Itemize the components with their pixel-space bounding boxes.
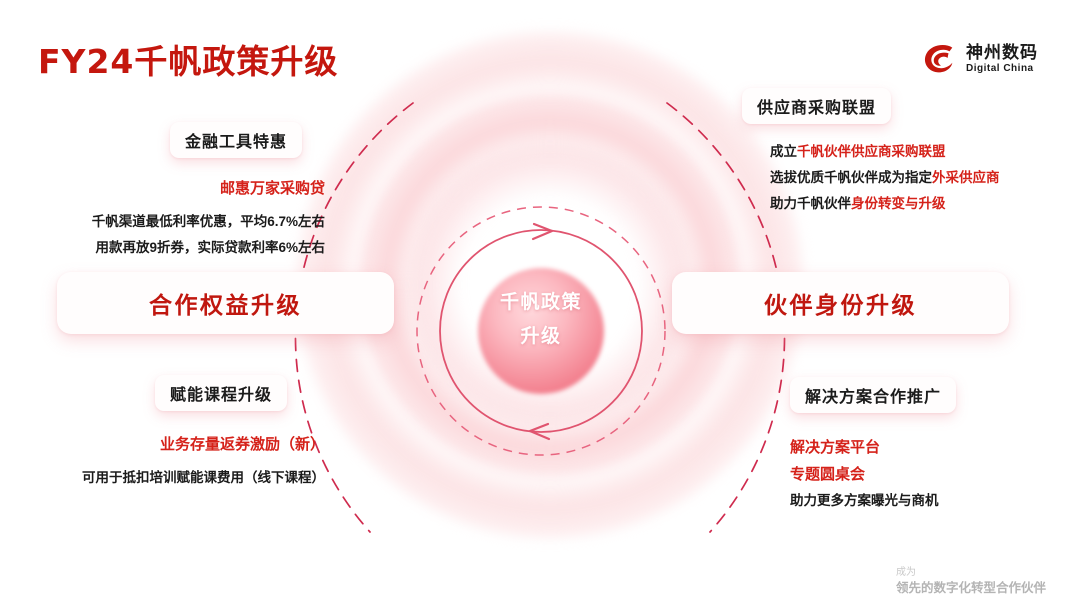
card-partner-identity-upgrade[interactable]: 伙伴身份升级 bbox=[672, 272, 1009, 334]
copy-supply-line-3: 助力千帆伙伴身份转变与升级 bbox=[770, 191, 1060, 217]
arrow-clockwise-bottom-icon bbox=[530, 424, 549, 439]
copy-course: 业务存量返券激励（新） 可用于抵扣培训赋能课费用（线下课程） bbox=[10, 432, 325, 491]
copy-course-head: 业务存量返券激励（新） bbox=[10, 432, 325, 458]
copy-supply-line-1: 成立千帆伙伴供应商采购联盟 bbox=[770, 139, 1060, 165]
card-partner-benefits-upgrade[interactable]: 合作权益升级 bbox=[57, 272, 394, 334]
copy-finance: 邮惠万家采购贷 千帆渠道最低利率优惠，平均6.7%左右 用款再放9折券，实际贷款… bbox=[20, 176, 325, 261]
pill-finance-label: 金融工具特惠 bbox=[185, 128, 287, 152]
arrow-clockwise-top-icon bbox=[533, 224, 552, 239]
copy-supply-line-2-black: 选拔优质千帆伙伴成为指定 bbox=[770, 170, 932, 185]
copy-supply-line-3-black: 助力千帆伙伴 bbox=[770, 196, 851, 211]
pill-supplier-alliance[interactable]: 供应商采购联盟 bbox=[742, 88, 891, 124]
copy-solution-head-2: 专题圆桌会 bbox=[790, 461, 1070, 488]
page-title: FY24千帆政策升级 bbox=[38, 35, 338, 83]
copy-supply: 成立千帆伙伴供应商采购联盟 选拔优质千帆伙伴成为指定外采供应商 助力千帆伙伴身份… bbox=[770, 139, 1060, 217]
copy-finance-line-1: 千帆渠道最低利率优惠，平均6.7%左右 bbox=[20, 209, 325, 235]
pill-supply-label: 供应商采购联盟 bbox=[757, 94, 876, 118]
card-left-label: 合作权益升级 bbox=[149, 286, 302, 320]
copy-supply-line-3-red: 身份转变与升级 bbox=[851, 196, 946, 211]
logo-text-en: Digital China bbox=[966, 64, 1038, 74]
pill-solution-promotion[interactable]: 解决方案合作推广 bbox=[790, 377, 956, 413]
copy-solution: 解决方案平台 专题圆桌会 助力更多方案曝光与商机 bbox=[790, 434, 1070, 514]
copy-supply-line-1-black: 成立 bbox=[770, 144, 797, 159]
brand-logo: 神州数码 Digital China bbox=[920, 40, 1038, 78]
center-label-line2: 升级 bbox=[520, 326, 561, 347]
logo-text-cn: 神州数码 bbox=[966, 44, 1038, 61]
tagline-line-2: 领先的数字化转型合作伙伴 bbox=[896, 580, 1046, 597]
copy-course-line-1: 可用于抵扣培训赋能课费用（线下课程） bbox=[10, 465, 325, 491]
pill-course-label: 赋能课程升级 bbox=[170, 381, 272, 405]
pill-finance-tools[interactable]: 金融工具特惠 bbox=[170, 122, 302, 158]
center-label: 千帆政策 升级 bbox=[470, 286, 612, 354]
copy-finance-line-2: 用款再放9折券，实际贷款利率6%左右 bbox=[20, 235, 325, 261]
footer-tagline: 成为 领先的数字化转型合作伙伴 bbox=[896, 566, 1046, 596]
tagline-line-1: 成为 bbox=[896, 566, 1046, 580]
center-label-line1: 千帆政策 bbox=[500, 292, 582, 313]
copy-solution-head-1: 解决方案平台 bbox=[790, 434, 1070, 461]
copy-finance-head: 邮惠万家采购贷 bbox=[20, 176, 325, 202]
pill-solution-label: 解决方案合作推广 bbox=[805, 383, 941, 407]
slide-canvas: 千帆政策 升级 FY24千帆政策升级 神州数码 Digital China 合作… bbox=[0, 0, 1080, 605]
pill-enablement-course[interactable]: 赋能课程升级 bbox=[155, 375, 287, 411]
copy-supply-line-2: 选拔优质千帆伙伴成为指定外采供应商 bbox=[770, 165, 1060, 191]
copy-supply-line-1-red: 千帆伙伴供应商采购联盟 bbox=[797, 144, 946, 159]
card-right-label: 伙伴身份升级 bbox=[764, 286, 917, 320]
copy-supply-line-2-red: 外采供应商 bbox=[932, 170, 1000, 185]
copy-solution-line-1: 助力更多方案曝光与商机 bbox=[790, 488, 1070, 514]
digital-china-swirl-icon bbox=[920, 40, 958, 78]
